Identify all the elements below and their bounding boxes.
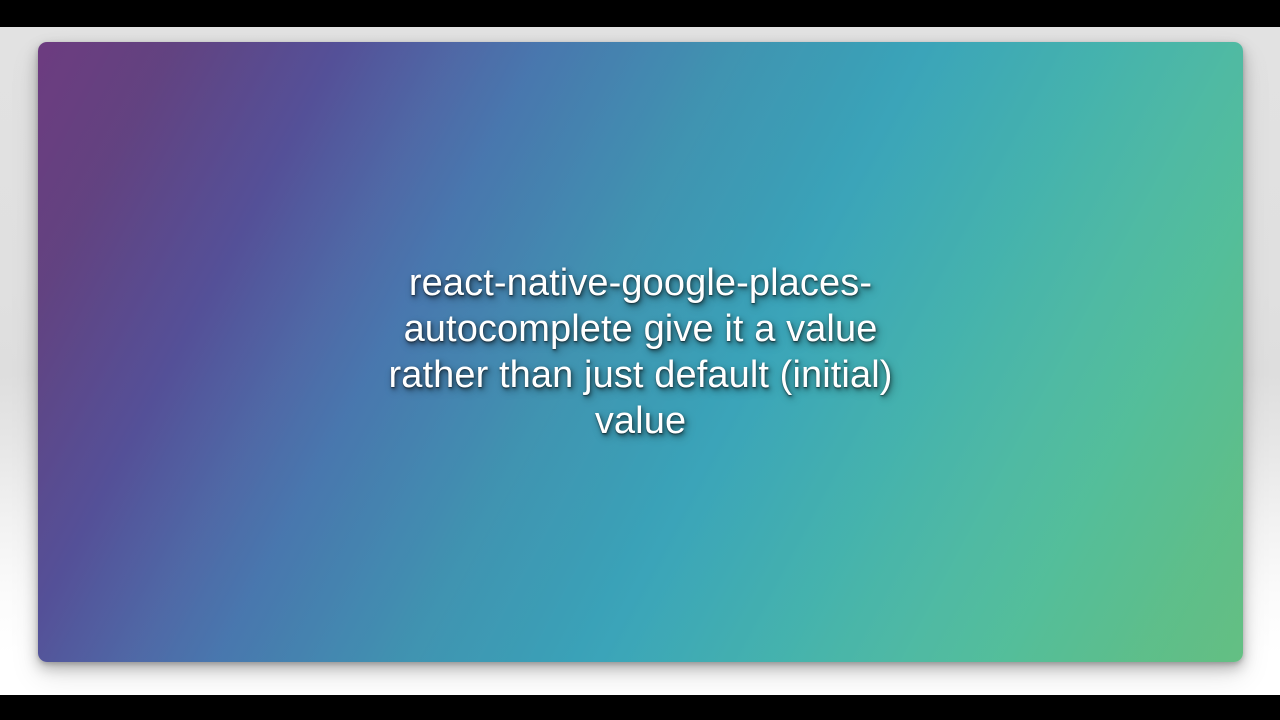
- card-text-container: react-native-google-places-autocomplete …: [38, 42, 1243, 662]
- video-frame: react-native-google-places-autocomplete …: [0, 0, 1280, 720]
- title-card: react-native-google-places-autocomplete …: [38, 42, 1243, 662]
- slide-stage: react-native-google-places-autocomplete …: [0, 27, 1280, 695]
- letterbox-bar-bottom: [0, 695, 1280, 720]
- letterbox-bar-top: [0, 0, 1280, 27]
- card-title: react-native-google-places-autocomplete …: [371, 260, 911, 444]
